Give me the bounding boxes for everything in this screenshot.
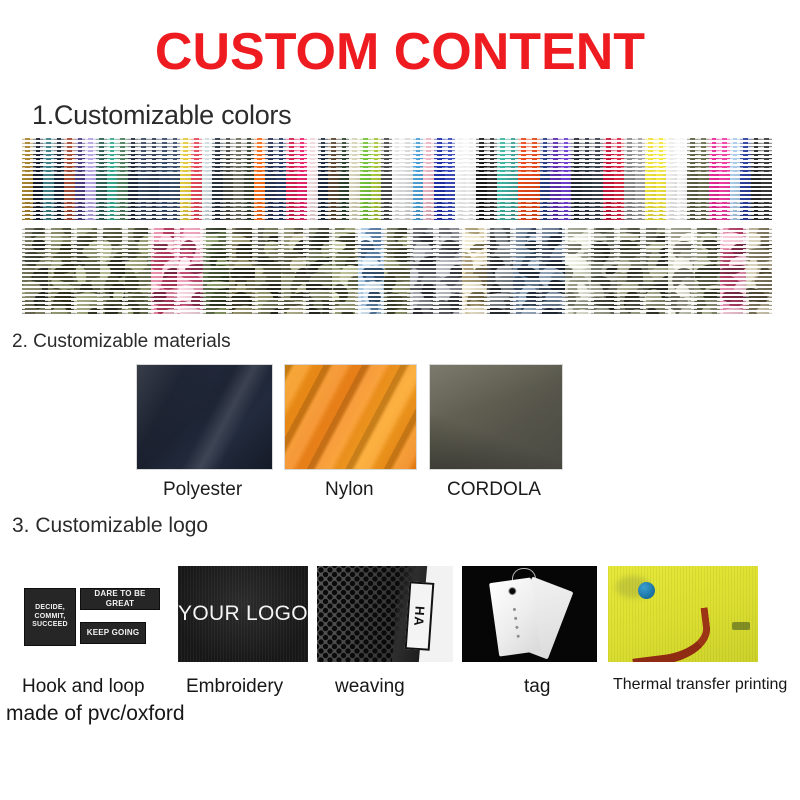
material-swatch-polyester (136, 364, 273, 470)
swatch-pinked-edge (613, 138, 617, 222)
swatch-pinked-edge (602, 138, 606, 222)
swatch-pinked-edge (202, 228, 206, 314)
swatch-pinked-edge (750, 138, 754, 222)
swatch-pinked-edge (538, 228, 542, 314)
color-swatch (582, 138, 593, 222)
logo-panel-hook-and-loop: DECIDE, COMMIT, SUCCEED DARE TO BE GREAT… (18, 566, 166, 662)
color-swatch (645, 138, 656, 222)
camo-swatch (487, 228, 513, 314)
color-swatch (54, 138, 65, 222)
color-swatch (529, 138, 540, 222)
swatch-pinked-edge (686, 138, 690, 222)
swatch-pinked-edge (667, 228, 671, 314)
camo-swatch (436, 228, 462, 314)
swatch-pinked-edge (116, 138, 120, 222)
caption-weaving: weaving (335, 676, 405, 698)
camo-swatch (125, 228, 151, 314)
color-swatch (730, 138, 741, 222)
caption-tag: tag (524, 676, 550, 698)
swatch-pinked-edge (655, 138, 659, 222)
swatch-pinked-edge (570, 138, 574, 222)
swatch-pinked-edge (409, 228, 413, 314)
color-swatch (180, 138, 191, 222)
swatch-pinked-edge (228, 228, 232, 314)
swatch-pinked-edge (435, 228, 439, 314)
swatch-pinked-edge (106, 138, 110, 222)
section-heading-colors: 1.Customizable colors (32, 100, 291, 131)
swatch-pinked-edge (461, 228, 465, 314)
swatch-pinked-edge (317, 138, 321, 222)
logo-panel-weaving: HA (317, 566, 453, 662)
swatch-pinked-edge (176, 228, 180, 314)
color-swatch (476, 138, 487, 222)
swatch-pinked-edge (528, 138, 532, 222)
swatch-pinked-edge (549, 138, 553, 222)
swatch-pinked-edge (169, 138, 173, 222)
swatch-pinked-edge (507, 138, 511, 222)
color-swatch (360, 138, 371, 222)
swatch-pinked-edge (719, 228, 723, 314)
swatch-pinked-edge (512, 228, 516, 314)
swatch-pinked-edge (22, 228, 25, 314)
swatch-pinked-edge (280, 228, 284, 314)
swatch-pinked-edge (475, 138, 479, 222)
camo-swatch (358, 228, 384, 314)
color-swatch (191, 138, 202, 222)
swatch-pinked-edge (47, 228, 51, 314)
color-swatch (276, 138, 287, 222)
color-swatch (254, 138, 265, 222)
swatch-pinked-edge (127, 138, 131, 222)
tag-print-dots (512, 608, 520, 644)
swatch-pinked-edge (564, 228, 568, 314)
logo-panel-embroidery: YOUR LOGO (178, 566, 308, 662)
color-swatch (751, 138, 762, 222)
swatch-pinked-edge (124, 228, 128, 314)
color-swatch (223, 138, 234, 222)
camo-swatch (539, 228, 565, 314)
camo-swatch (281, 228, 307, 314)
swatch-pinked-edge (422, 138, 426, 222)
swatch-pinked-edge (211, 138, 215, 222)
swatch-pinked-edge (745, 228, 749, 314)
tag-hole (508, 587, 517, 596)
camo-swatch (617, 228, 643, 314)
swatch-pinked-edge (150, 228, 154, 314)
nylon-fabric-texture (285, 365, 416, 469)
swatch-pinked-edge (676, 138, 680, 222)
color-swatch (761, 138, 772, 222)
swatch-pinked-edge (137, 138, 141, 222)
swatch-pinked-edge (285, 138, 289, 222)
swatch-pinked-edge (729, 138, 733, 222)
color-swatch (635, 138, 646, 222)
woven-label-tag: HA (404, 581, 434, 651)
color-swatch (571, 138, 582, 222)
color-swatch (614, 138, 625, 222)
camo-swatch (565, 228, 591, 314)
color-swatch (592, 138, 603, 222)
swatch-pinked-edge (370, 138, 374, 222)
material-swatch-cordola (429, 364, 563, 470)
swatch-pinked-edge (496, 138, 500, 222)
color-swatch (85, 138, 96, 222)
camo-swatch (332, 228, 358, 314)
color-swatch-strip (22, 138, 772, 222)
color-swatch (212, 138, 223, 222)
material-label-nylon: Nylon (325, 479, 374, 501)
woven-label-text: HA (411, 605, 427, 627)
swatch-pinked-edge (591, 138, 595, 222)
camo-swatch (203, 228, 229, 314)
color-swatch (339, 138, 350, 222)
swatch-pinked-edge (359, 138, 363, 222)
swatch-pinked-edge (665, 138, 669, 222)
swatch-pinked-edge (53, 138, 57, 222)
color-swatch (318, 138, 329, 222)
polyester-fabric-texture (137, 365, 272, 469)
swatch-pinked-edge (433, 138, 437, 222)
color-swatch (244, 138, 255, 222)
swatch-pinked-edge (73, 228, 77, 314)
color-swatch (698, 138, 709, 222)
swatch-pinked-edge (99, 228, 103, 314)
color-swatch (75, 138, 86, 222)
color-swatch (508, 138, 519, 222)
swatch-pinked-edge (401, 138, 405, 222)
camo-swatch (720, 228, 746, 314)
camo-swatch (410, 228, 436, 314)
color-swatch (445, 138, 456, 222)
swatch-pinked-edge (634, 138, 638, 222)
swatch-pinked-edge (560, 138, 564, 222)
swatch-pinked-edge (254, 228, 258, 314)
color-swatch (455, 138, 466, 222)
color-swatch (64, 138, 75, 222)
swatch-pinked-edge (444, 138, 448, 222)
camo-swatch (100, 228, 126, 314)
swatch-pinked-edge (243, 138, 247, 222)
swatch-pinked-edge (179, 138, 183, 222)
swatch-pinked-edge (331, 228, 335, 314)
color-swatch (709, 138, 720, 222)
swatch-pinked-edge (486, 138, 490, 222)
color-swatch (518, 138, 529, 222)
camo-swatch (746, 228, 772, 314)
color-swatch (561, 138, 572, 222)
camo-swatch (591, 228, 617, 314)
color-swatch (719, 138, 730, 222)
color-swatch (286, 138, 297, 222)
color-swatch (233, 138, 244, 222)
swatch-pinked-edge (148, 138, 152, 222)
color-swatch (307, 138, 318, 222)
color-swatch (677, 138, 688, 222)
swatch-pinked-edge (769, 138, 772, 222)
color-swatch (540, 138, 551, 222)
swatch-pinked-edge (739, 138, 743, 222)
camo-swatch (22, 228, 48, 314)
footnote-material: made of pvc/oxford (6, 702, 185, 726)
camo-swatch (513, 228, 539, 314)
camo-swatch (384, 228, 410, 314)
patch-dare-to-be-great: DARE TO BE GREAT (80, 588, 160, 610)
color-swatch (497, 138, 508, 222)
caption-thermal-transfer: Thermal transfer printing (613, 676, 787, 694)
section-heading-materials: 2. Customizable materials (12, 331, 231, 353)
color-swatch (466, 138, 477, 222)
page-title: CUSTOM CONTENT (0, 26, 800, 78)
color-swatch (656, 138, 667, 222)
color-swatch (687, 138, 698, 222)
swatch-pinked-edge (158, 138, 162, 222)
swatch-pinked-edge (760, 138, 764, 222)
camo-swatch (151, 228, 177, 314)
swatch-pinked-edge (642, 228, 646, 314)
swatch-pinked-edge (348, 138, 352, 222)
color-swatch (96, 138, 107, 222)
swatch-pinked-edge (95, 138, 99, 222)
swatch-pinked-edge (264, 138, 268, 222)
material-label-polyester: Polyester (163, 479, 242, 501)
color-swatch (487, 138, 498, 222)
caption-embroidery: Embroidery (186, 676, 283, 698)
color-swatch (666, 138, 677, 222)
embroidery-logo-text: YOUR LOGO (178, 602, 308, 626)
swatch-pinked-edge (718, 138, 722, 222)
color-swatch (434, 138, 445, 222)
swatch-pinked-edge (391, 138, 395, 222)
swatch-pinked-edge (327, 138, 331, 222)
color-swatch (413, 138, 424, 222)
swatch-pinked-edge (201, 138, 205, 222)
swatch-pinked-edge (693, 228, 697, 314)
color-swatch (423, 138, 434, 222)
swatch-pinked-edge (454, 138, 458, 222)
camo-swatch (306, 228, 332, 314)
cordola-fabric-texture (430, 365, 562, 469)
swatch-pinked-edge (22, 138, 25, 222)
color-swatch (297, 138, 308, 222)
color-swatch (149, 138, 160, 222)
color-swatch (128, 138, 139, 222)
thermal-small-mark (732, 622, 750, 630)
swatch-pinked-edge (412, 138, 416, 222)
camo-swatch (177, 228, 203, 314)
swatch-pinked-edge (590, 228, 594, 314)
color-swatch (328, 138, 339, 222)
camo-swatch (643, 228, 669, 314)
color-swatch (624, 138, 635, 222)
material-swatch-nylon (284, 364, 417, 470)
swatch-pinked-edge (296, 138, 300, 222)
material-label-cordola: CORDOLA (447, 479, 541, 501)
thermal-blue-dot (638, 582, 655, 599)
swatch-pinked-edge (222, 138, 226, 222)
color-swatch (402, 138, 413, 222)
color-swatch (371, 138, 382, 222)
swatch-pinked-edge (190, 138, 194, 222)
logo-panel-thermal-transfer (608, 566, 758, 662)
color-swatch (202, 138, 213, 222)
camo-swatch (462, 228, 488, 314)
swatch-pinked-edge (539, 138, 543, 222)
caption-hook-and-loop: Hook and loop (22, 676, 145, 698)
color-swatch (603, 138, 614, 222)
camo-swatch (229, 228, 255, 314)
color-swatch (33, 138, 44, 222)
camo-swatch (668, 228, 694, 314)
swatch-pinked-edge (708, 138, 712, 222)
swatch-pinked-edge (769, 228, 772, 314)
swatch-pinked-edge (232, 138, 236, 222)
swatch-pinked-edge (380, 138, 384, 222)
color-swatch (107, 138, 118, 222)
swatch-pinked-edge (63, 138, 67, 222)
swatch-pinked-edge (84, 138, 88, 222)
camo-swatch (694, 228, 720, 314)
swatch-pinked-edge (581, 138, 585, 222)
color-swatch (740, 138, 751, 222)
swatch-pinked-edge (32, 138, 36, 222)
color-swatch (381, 138, 392, 222)
color-swatch (138, 138, 149, 222)
color-swatch (392, 138, 403, 222)
swatch-pinked-edge (74, 138, 78, 222)
camo-swatch (255, 228, 281, 314)
swatch-pinked-edge (465, 138, 469, 222)
swatch-pinked-edge (697, 138, 701, 222)
patch-decide-commit-succeed: DECIDE, COMMIT, SUCCEED (24, 588, 76, 646)
swatch-pinked-edge (623, 138, 627, 222)
color-swatch (117, 138, 128, 222)
color-swatch (159, 138, 170, 222)
camo-swatch (74, 228, 100, 314)
camo-swatch (48, 228, 74, 314)
section-heading-logo: 3. Customizable logo (12, 514, 208, 538)
swatch-pinked-edge (275, 138, 279, 222)
swatch-pinked-edge (383, 228, 387, 314)
swatch-pinked-edge (253, 138, 257, 222)
camo-swatch-strip (22, 228, 772, 314)
swatch-pinked-edge (517, 138, 521, 222)
color-swatch (265, 138, 276, 222)
swatch-pinked-edge (42, 138, 46, 222)
swatch-pinked-edge (306, 138, 310, 222)
color-swatch (43, 138, 54, 222)
color-swatch (349, 138, 360, 222)
logo-panel-tag (462, 566, 597, 662)
swatch-pinked-edge (486, 228, 490, 314)
patch-keep-going: KEEP GOING (80, 622, 146, 644)
swatch-pinked-edge (305, 228, 309, 314)
color-swatch (22, 138, 33, 222)
swatch-pinked-edge (616, 228, 620, 314)
swatch-pinked-edge (357, 228, 361, 314)
color-swatch (170, 138, 181, 222)
color-swatch (550, 138, 561, 222)
swatch-pinked-edge (644, 138, 648, 222)
swatch-pinked-edge (338, 138, 342, 222)
